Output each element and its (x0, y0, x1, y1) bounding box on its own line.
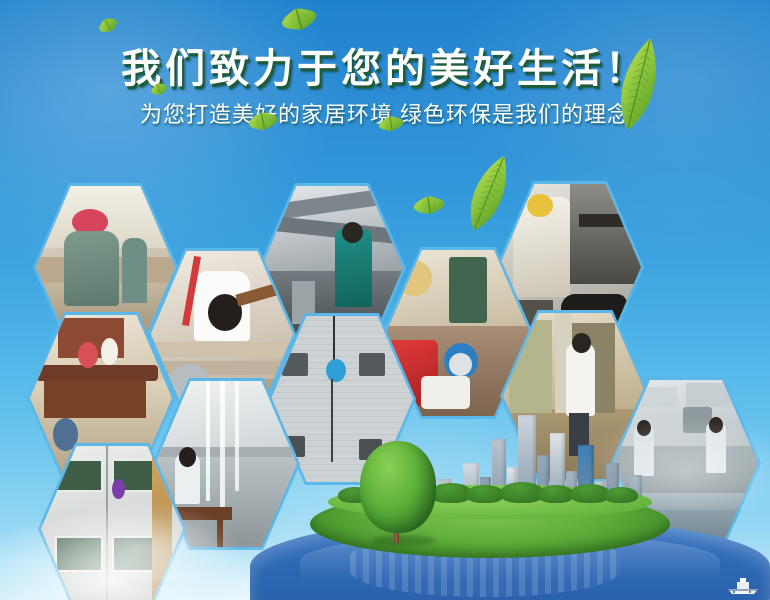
page-title: 我们致力于您的美好生活！ (0, 36, 770, 94)
page-subtitle: 为您打造美好的家居环境 绿色环保是我们的理念 (0, 97, 770, 129)
promo-banner: 我们致力于您的美好生活！ 为您打造美好的家居环境 绿色环保是我们的理念 (0, 0, 770, 600)
tree-shadow (372, 535, 436, 546)
boat-icon (724, 576, 762, 596)
eco-city-island (310, 405, 670, 600)
island-bush (466, 485, 504, 503)
island-bush (604, 487, 638, 503)
island-bush (538, 485, 574, 503)
tree-crown-icon (360, 441, 436, 533)
